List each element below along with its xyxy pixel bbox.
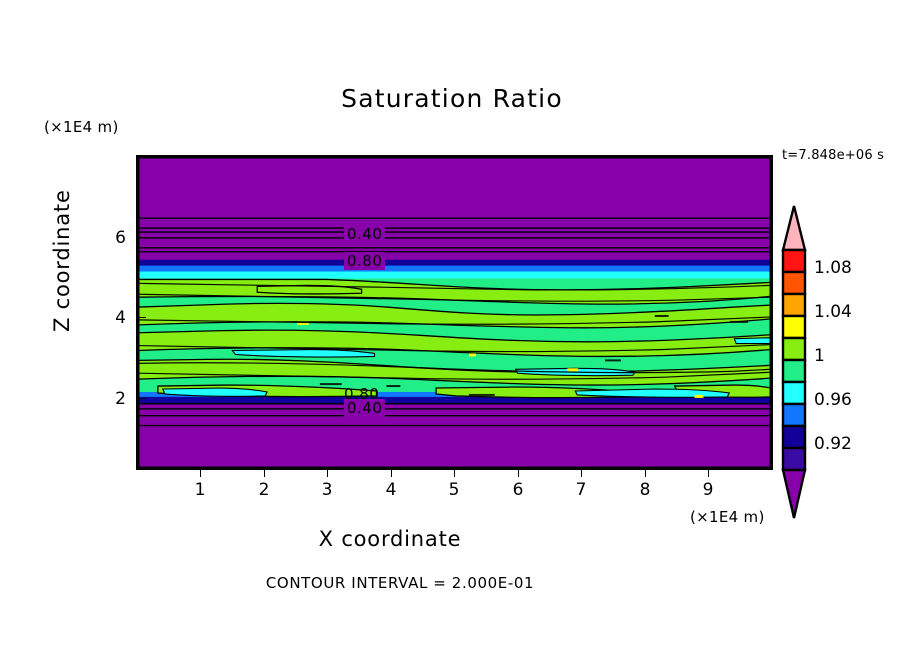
colorbar-label-1: 1 [814,346,825,366]
x-tick-label-1: 1 [180,480,220,500]
colorbar-label-0.96: 0.96 [814,390,852,410]
x-tick-8 [645,468,646,477]
y-axis-units-label: (×1E4 m) [44,118,119,136]
y-tick-label-4: 4 [104,308,126,328]
contour-label-0.40-upper: 0.40 [344,225,385,243]
y-tick-2 [137,398,146,399]
x-tick-label-4: 4 [371,480,411,500]
x-tick-4 [391,468,392,477]
x-tick-1 [200,468,201,477]
colorbar-swatches [781,204,807,520]
colorbar-label-1.04: 1.04 [814,302,852,322]
x-tick-label-6: 6 [498,480,538,500]
x-tick-label-2: 2 [244,480,284,500]
y-tick-label-2: 2 [104,389,126,409]
x-tick-7 [581,468,582,477]
x-tick-label-9: 9 [688,480,728,500]
y-tick-4 [137,317,146,318]
y-tick-label-6: 6 [104,228,126,248]
x-tick-label-8: 8 [625,480,665,500]
x-tick-label-7: 7 [561,480,601,500]
x-tick-6 [518,468,519,477]
x-axis-title: X coordinate [0,527,780,551]
y-axis-title: Z coordinate [50,192,74,332]
figure-canvas: Saturation Ratio (×1E4 m) t=7.848e+06 s … [0,0,904,654]
contour-interval-note: CONTOUR INTERVAL = 2.000E-01 [0,574,800,592]
contour-field [138,157,771,468]
x-tick-label-3: 3 [307,480,347,500]
colorbar[interactable] [781,204,807,520]
x-axis-units-label: (×1E4 m) [690,508,765,526]
page-title: Saturation Ratio [0,84,904,113]
x-tick-5 [454,468,455,477]
timestamp-label: t=7.848e+06 s [782,148,884,163]
x-tick-3 [327,468,328,477]
contour-plot-area: 0.40 0.80 0.80 0.40 [136,155,773,470]
x-tick-2 [264,468,265,477]
x-tick-label-5: 5 [434,480,474,500]
y-tick-6 [137,237,146,238]
x-tick-9 [708,468,709,477]
colorbar-label-1.08: 1.08 [814,258,852,278]
colorbar-label-0.92: 0.92 [814,434,852,454]
contour-label-0.40-lower: 0.40 [344,399,385,417]
contour-label-0.80-upper: 0.80 [344,252,385,270]
